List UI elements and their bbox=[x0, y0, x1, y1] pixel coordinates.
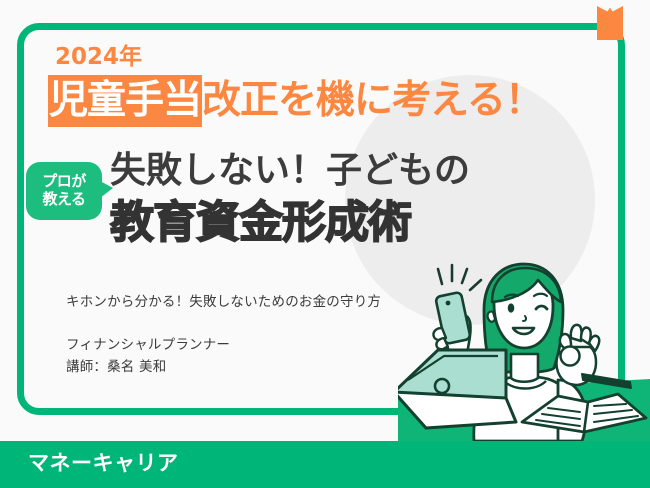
woman-with-smartphone-illustration bbox=[398, 250, 650, 441]
pro-badge-line1: プロが bbox=[42, 173, 86, 191]
speech-bubble-tail-icon bbox=[100, 181, 113, 198]
headline-highlight-text: 児童手当 bbox=[48, 75, 202, 127]
speaker-name: 講師：桑名 美和 bbox=[66, 355, 166, 375]
headline-tertiary: 教育資金形成術 bbox=[110, 201, 411, 245]
footer-bar: マネーキャリア bbox=[0, 441, 650, 488]
sub-copy: キホンから分かる！失敗しないためのお金の守り方 bbox=[66, 290, 381, 310]
seminar-banner: 2024年 児童手当改正を機に考える！ プロが 教える 失敗しない！子どもの 教… bbox=[0, 0, 650, 488]
headline-secondary: 失敗しない！子どもの bbox=[110, 153, 470, 189]
year-label: 2024年 bbox=[55, 46, 142, 69]
headline-rest-text: 改正を機に考える！ bbox=[202, 78, 543, 123]
pro-badge-line2: 教える bbox=[42, 191, 85, 209]
speaker-role: フィナンシャルプランナー bbox=[66, 333, 230, 353]
headline-primary: 児童手当改正を機に考える！ bbox=[48, 81, 543, 120]
pro-badge: プロが 教える bbox=[26, 162, 102, 220]
brand-logo: マネーキャリア bbox=[28, 453, 179, 474]
bookmark-ribbon-icon bbox=[597, 6, 623, 40]
